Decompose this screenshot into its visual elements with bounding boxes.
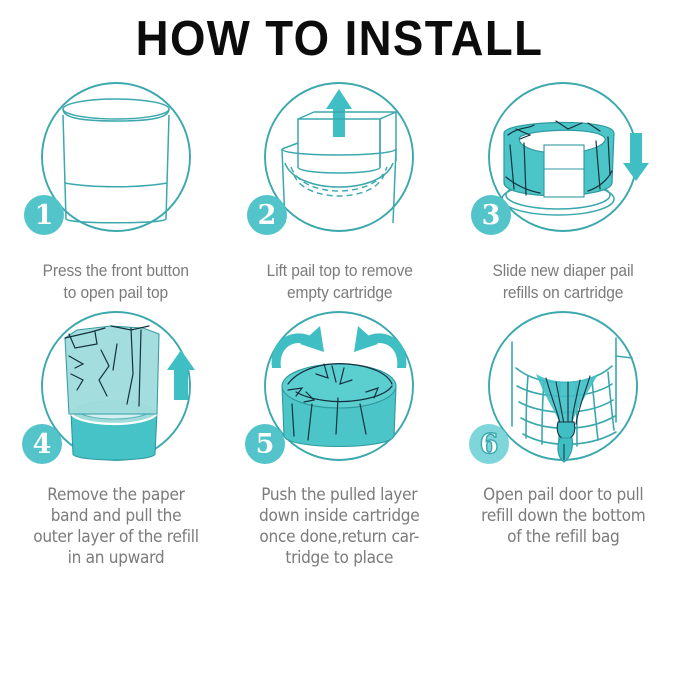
step-3-caption: Slide new diaper pail refills on cartrid… [493,261,634,303]
how-to-install-infographic: HOW TO INSTALL [0,0,679,679]
step-number-1: 1 [34,200,53,231]
step-2-illustration: 2 [236,71,442,259]
refill-ring-slide-down-arrow-icon [502,121,649,215]
step-6-illustration: 6 [460,304,666,482]
page-title: HOW TO INSTALL [24,0,655,65]
push-layer-down-curved-arrows-icon [272,326,407,447]
step-card-5: 5 Push the pulled layer down inside cart… [228,304,452,568]
step-badge-2: 2 [247,195,287,235]
step-4-caption: Remove the paper band and pull the outer… [33,484,198,568]
step-card-3: 3 Slide new diaper pail refills on cartr… [451,71,675,303]
step-badge-5: 5 [245,424,285,464]
step-number-5: 5 [256,429,275,460]
pail-door-knotted-bag-icon [512,338,632,462]
step-5-illustration: 5 [236,304,442,482]
step-badge-6: 6 [469,424,509,464]
step-badge-3: 3 [471,195,511,235]
step-card-4: 4 Remove the paper band and pull the out… [4,304,228,568]
step-3-illustration: 3 [460,71,666,259]
curved-arrow-left-icon [272,326,324,368]
step-number-4: 4 [32,429,51,460]
step-card-6: 6 Open pail door to pull refill down the… [451,304,675,568]
step-badge-1: 1 [24,195,64,235]
pull-outer-layer-up-arrow-icon [65,326,195,460]
step-number-3: 3 [482,200,501,231]
step-2-caption: Lift pail top to remove empty cartridge [266,261,412,303]
step-number-2: 2 [258,200,277,231]
up-arrow-icon [167,350,195,400]
step-card-1: 1 Press the front button to open pail to… [4,71,228,303]
curved-arrow-right-icon [354,326,406,368]
step-number-6: 6 [480,429,499,460]
steps-grid: 1 Press the front button to open pail to… [0,71,679,568]
step-1-illustration: 1 [13,71,219,259]
step-6-caption: Open pail door to pull refill down the b… [481,484,645,547]
closed-diaper-pail-icon [63,99,169,223]
down-arrow-icon [623,133,649,181]
step-badge-4: 4 [22,424,62,464]
pail-top-lift-up-arrow-icon [282,89,396,223]
up-arrow-icon [326,89,352,137]
step-card-2: 2 Lift pail top to remove empty cartridg… [228,71,452,303]
step-5-caption: Push the pulled layer down inside cartri… [259,484,419,568]
step-1-caption: Press the front button to open pail top [43,261,189,303]
step-4-illustration: 4 [13,304,219,482]
